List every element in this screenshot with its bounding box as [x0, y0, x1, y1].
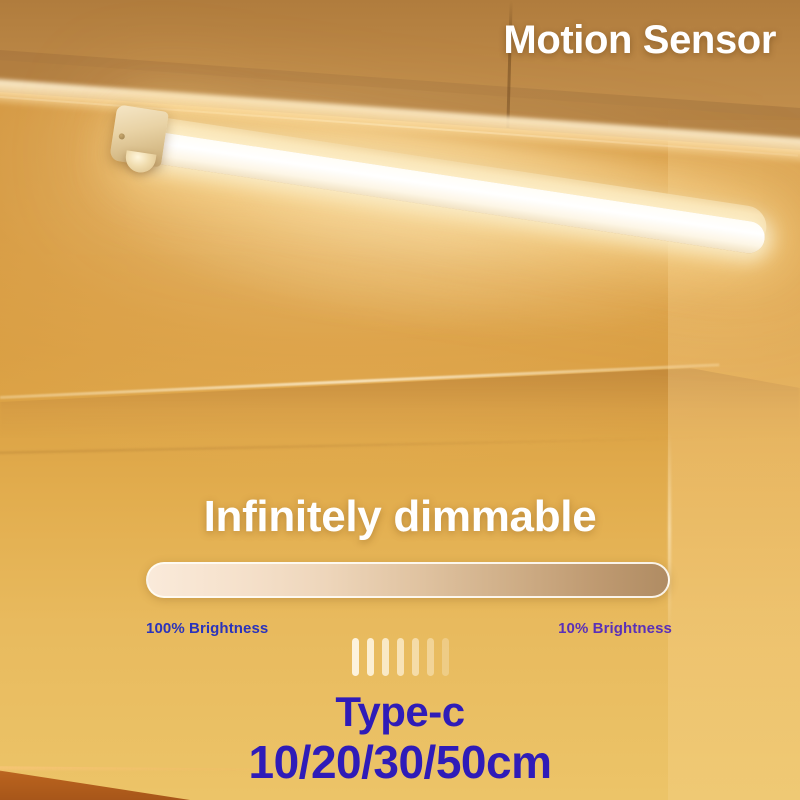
- dimming-tick: [412, 638, 419, 676]
- label-available-sizes: 10/20/30/50cm: [0, 735, 800, 789]
- dimming-tick: [352, 638, 359, 676]
- dimming-tick: [367, 638, 374, 676]
- product-ad-image: Motion Sensor Infinitely dimmable 100% B…: [0, 0, 800, 800]
- sensor-dome-icon: [124, 150, 157, 174]
- dimming-level-ticks: [0, 632, 800, 676]
- dimming-tick: [427, 638, 434, 676]
- brightness-gradient-bar: [146, 562, 670, 598]
- label-connector-type: Type-c: [0, 688, 800, 736]
- headline-motion-sensor: Motion Sensor: [503, 18, 776, 63]
- dimming-tick: [442, 638, 449, 676]
- headline-infinitely-dimmable: Infinitely dimmable: [0, 492, 800, 542]
- dimming-tick: [382, 638, 389, 676]
- sensor-screw-icon: [118, 133, 125, 140]
- dimming-tick: [397, 638, 404, 676]
